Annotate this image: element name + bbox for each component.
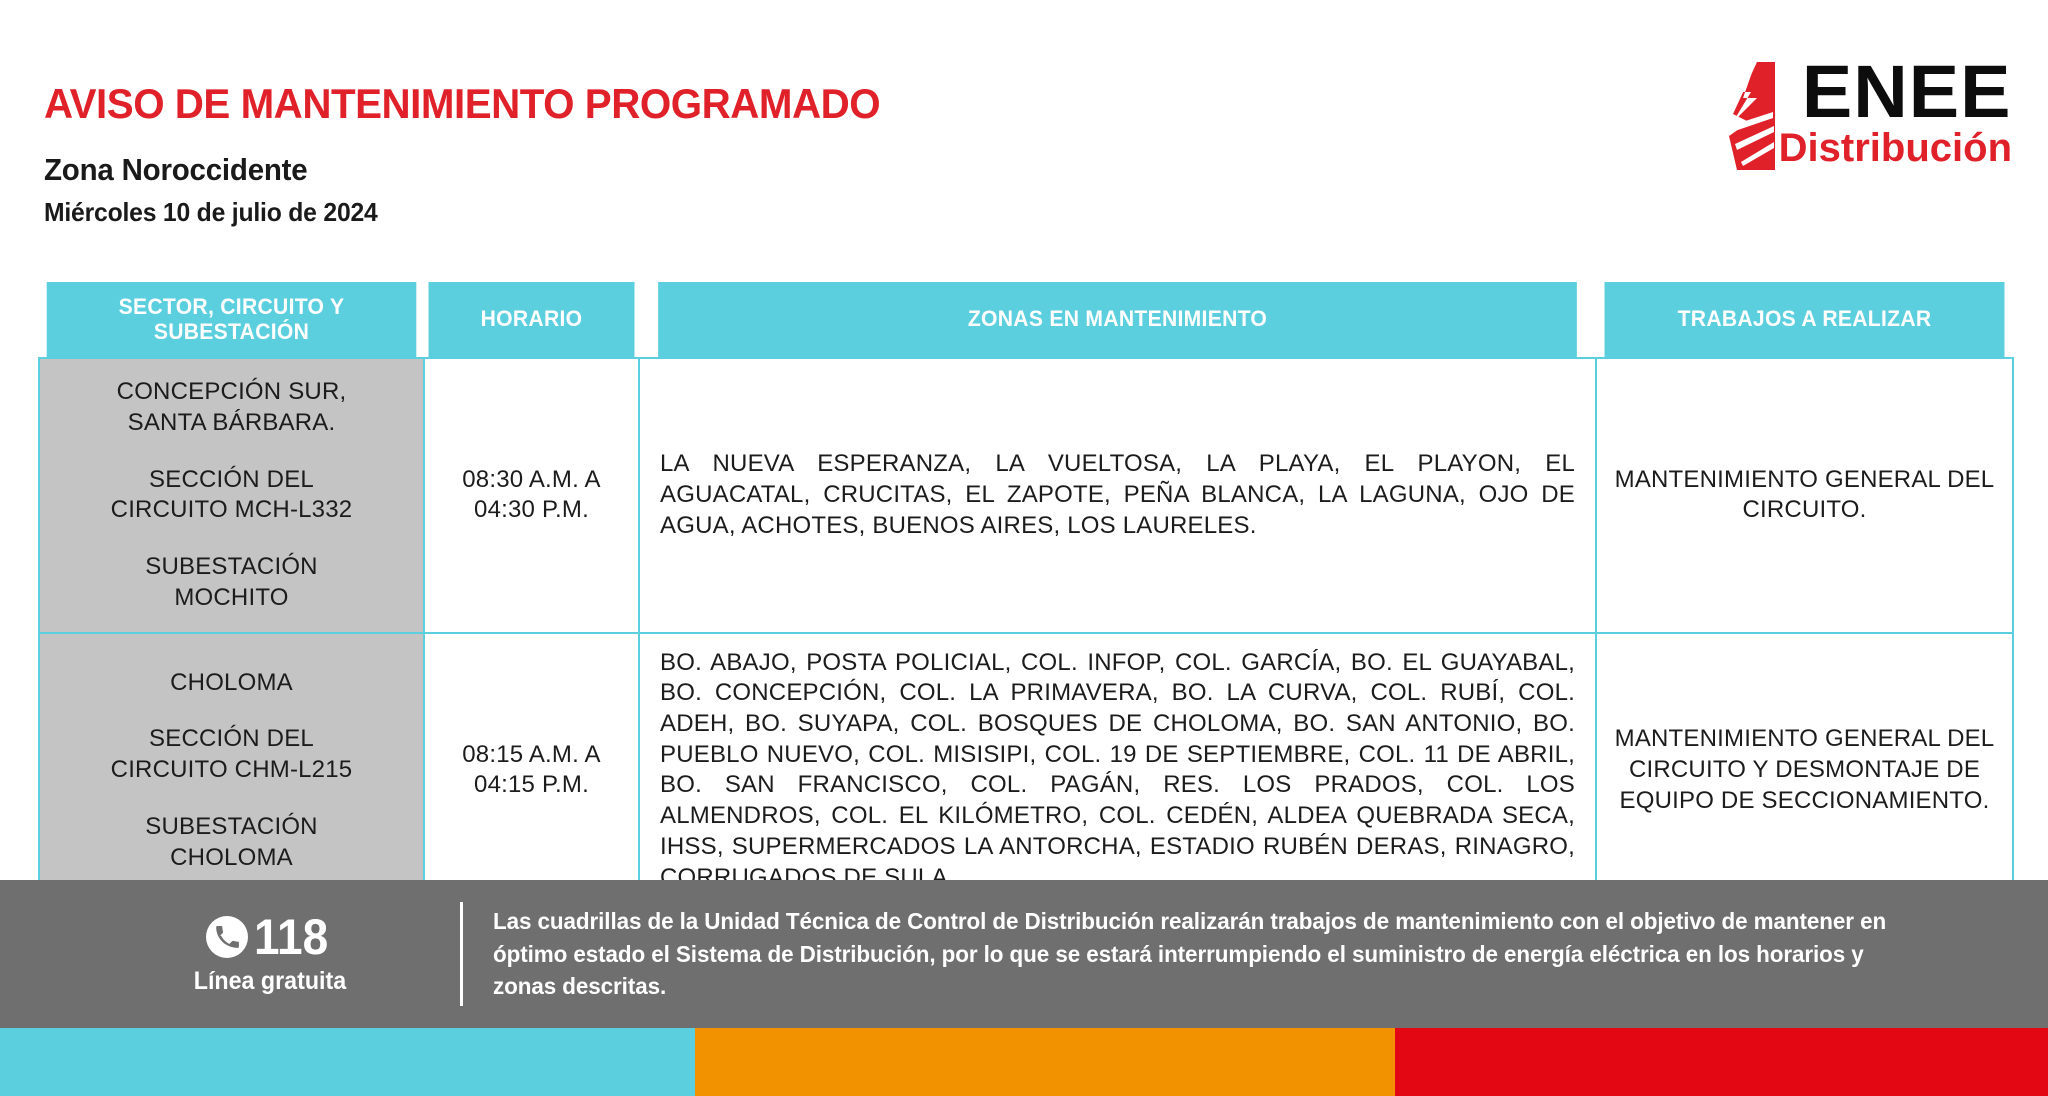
cell-sector: CONCEPCIÓN SUR, SANTA BÁRBARA. SECCIÓN D… <box>39 358 424 632</box>
table-header-row: SECTOR, CIRCUITO Y SUBESTACIÓN HORARIO Z… <box>39 282 2013 358</box>
cell-trabajos: MANTENIMIENTO GENERAL DEL CIRCUITO. <box>1596 358 2013 632</box>
sector-line: SANTA BÁRBARA. <box>52 408 411 439</box>
cell-zonas: LA NUEVA ESPERANZA, LA VUELTOSA, LA PLAY… <box>639 358 1596 632</box>
sector-line: SUBESTACIÓN <box>52 812 411 843</box>
spacer <box>52 786 411 812</box>
spacer <box>52 698 411 724</box>
table-body: CONCEPCIÓN SUR, SANTA BÁRBARA. SECCIÓN D… <box>39 358 2013 908</box>
hotline-block: 118 Línea gratuita <box>0 912 460 996</box>
sector-line: MOCHITO <box>52 583 411 614</box>
color-bar-orange <box>695 1028 1395 1096</box>
sector-line: SUBESTACIÓN <box>52 552 411 583</box>
sector-line: CONCEPCIÓN SUR, <box>52 377 411 408</box>
cell-zonas: BO. ABAJO, POSTA POLICIAL, COL. INFOP, C… <box>639 633 1596 909</box>
spacer <box>52 439 411 465</box>
sector-line: CHOLOMA <box>52 843 411 874</box>
spacer <box>52 526 411 552</box>
logo-name: ENEE <box>1802 58 2012 126</box>
bottom-color-bars <box>0 1028 2048 1096</box>
zone-subtitle: Zona Noroccidente <box>44 152 871 188</box>
sector-line: CIRCUITO CHM-L215 <box>52 755 411 786</box>
column-header-zonas: ZONAS EN MANTENIMIENTO <box>658 282 1577 358</box>
table-header: SECTOR, CIRCUITO Y SUBESTACIÓN HORARIO Z… <box>39 282 2013 358</box>
page-title: AVISO DE MANTENIMIENTO PROGRAMADO <box>44 82 880 126</box>
column-header-trabajos: TRABAJOS A REALIZAR <box>1604 282 2004 358</box>
sector-line: CIRCUITO MCH-L332 <box>52 495 411 526</box>
sector-line: SECCIÓN DEL <box>52 465 411 496</box>
phone-handset-icon <box>206 916 248 958</box>
cell-horario: 08:15 A.M. A 04:15 P.M. <box>424 633 639 909</box>
date-subtitle: Miércoles 10 de julio de 2024 <box>44 197 871 228</box>
logo-subtitle: Distribución <box>1779 128 2012 168</box>
column-header-sector: SECTOR, CIRCUITO Y SUBESTACIÓN <box>47 282 417 358</box>
cell-horario: 08:30 A.M. A 04:30 P.M. <box>424 358 639 632</box>
sector-line: CHOLOMA <box>52 668 411 699</box>
maintenance-table-container: SECTOR, CIRCUITO Y SUBESTACIÓN HORARIO Z… <box>38 282 2012 909</box>
footer-bar: 118 Línea gratuita Las cuadrillas de la … <box>0 880 2048 1028</box>
maintenance-table: SECTOR, CIRCUITO Y SUBESTACIÓN HORARIO Z… <box>38 282 2014 909</box>
sector-line: SECCIÓN DEL <box>52 724 411 755</box>
column-header-horario: HORARIO <box>428 282 634 358</box>
footer-description: Las cuadrillas de la Unidad Técnica de C… <box>493 905 1978 1002</box>
logo-text: ENEE Distribución <box>1779 58 2012 168</box>
cell-sector: CHOLOMA SECCIÓN DEL CIRCUITO CHM-L215 SU… <box>39 633 424 909</box>
enee-logo: ENEE Distribución <box>1727 58 2012 170</box>
lightning-bolt-icon <box>1727 62 1775 170</box>
hotline-number: 118 <box>254 912 328 962</box>
table-row: CHOLOMA SECCIÓN DEL CIRCUITO CHM-L215 SU… <box>39 633 2013 909</box>
hotline-label: Línea gratuita <box>194 967 346 996</box>
table-row: CONCEPCIÓN SUR, SANTA BÁRBARA. SECCIÓN D… <box>39 358 2013 632</box>
hotline-row: 118 <box>206 912 335 962</box>
color-bar-cyan <box>0 1028 695 1096</box>
cell-trabajos: MANTENIMIENTO GENERAL DEL CIRCUITO Y DES… <box>1596 633 2013 909</box>
footer-divider <box>460 902 463 1006</box>
title-block: AVISO DE MANTENIMIENTO PROGRAMADO Zona N… <box>44 82 915 228</box>
color-bar-red <box>1395 1028 2048 1096</box>
page-header: AVISO DE MANTENIMIENTO PROGRAMADO Zona N… <box>0 0 2048 268</box>
notice-page: AVISO DE MANTENIMIENTO PROGRAMADO Zona N… <box>0 0 2048 1096</box>
